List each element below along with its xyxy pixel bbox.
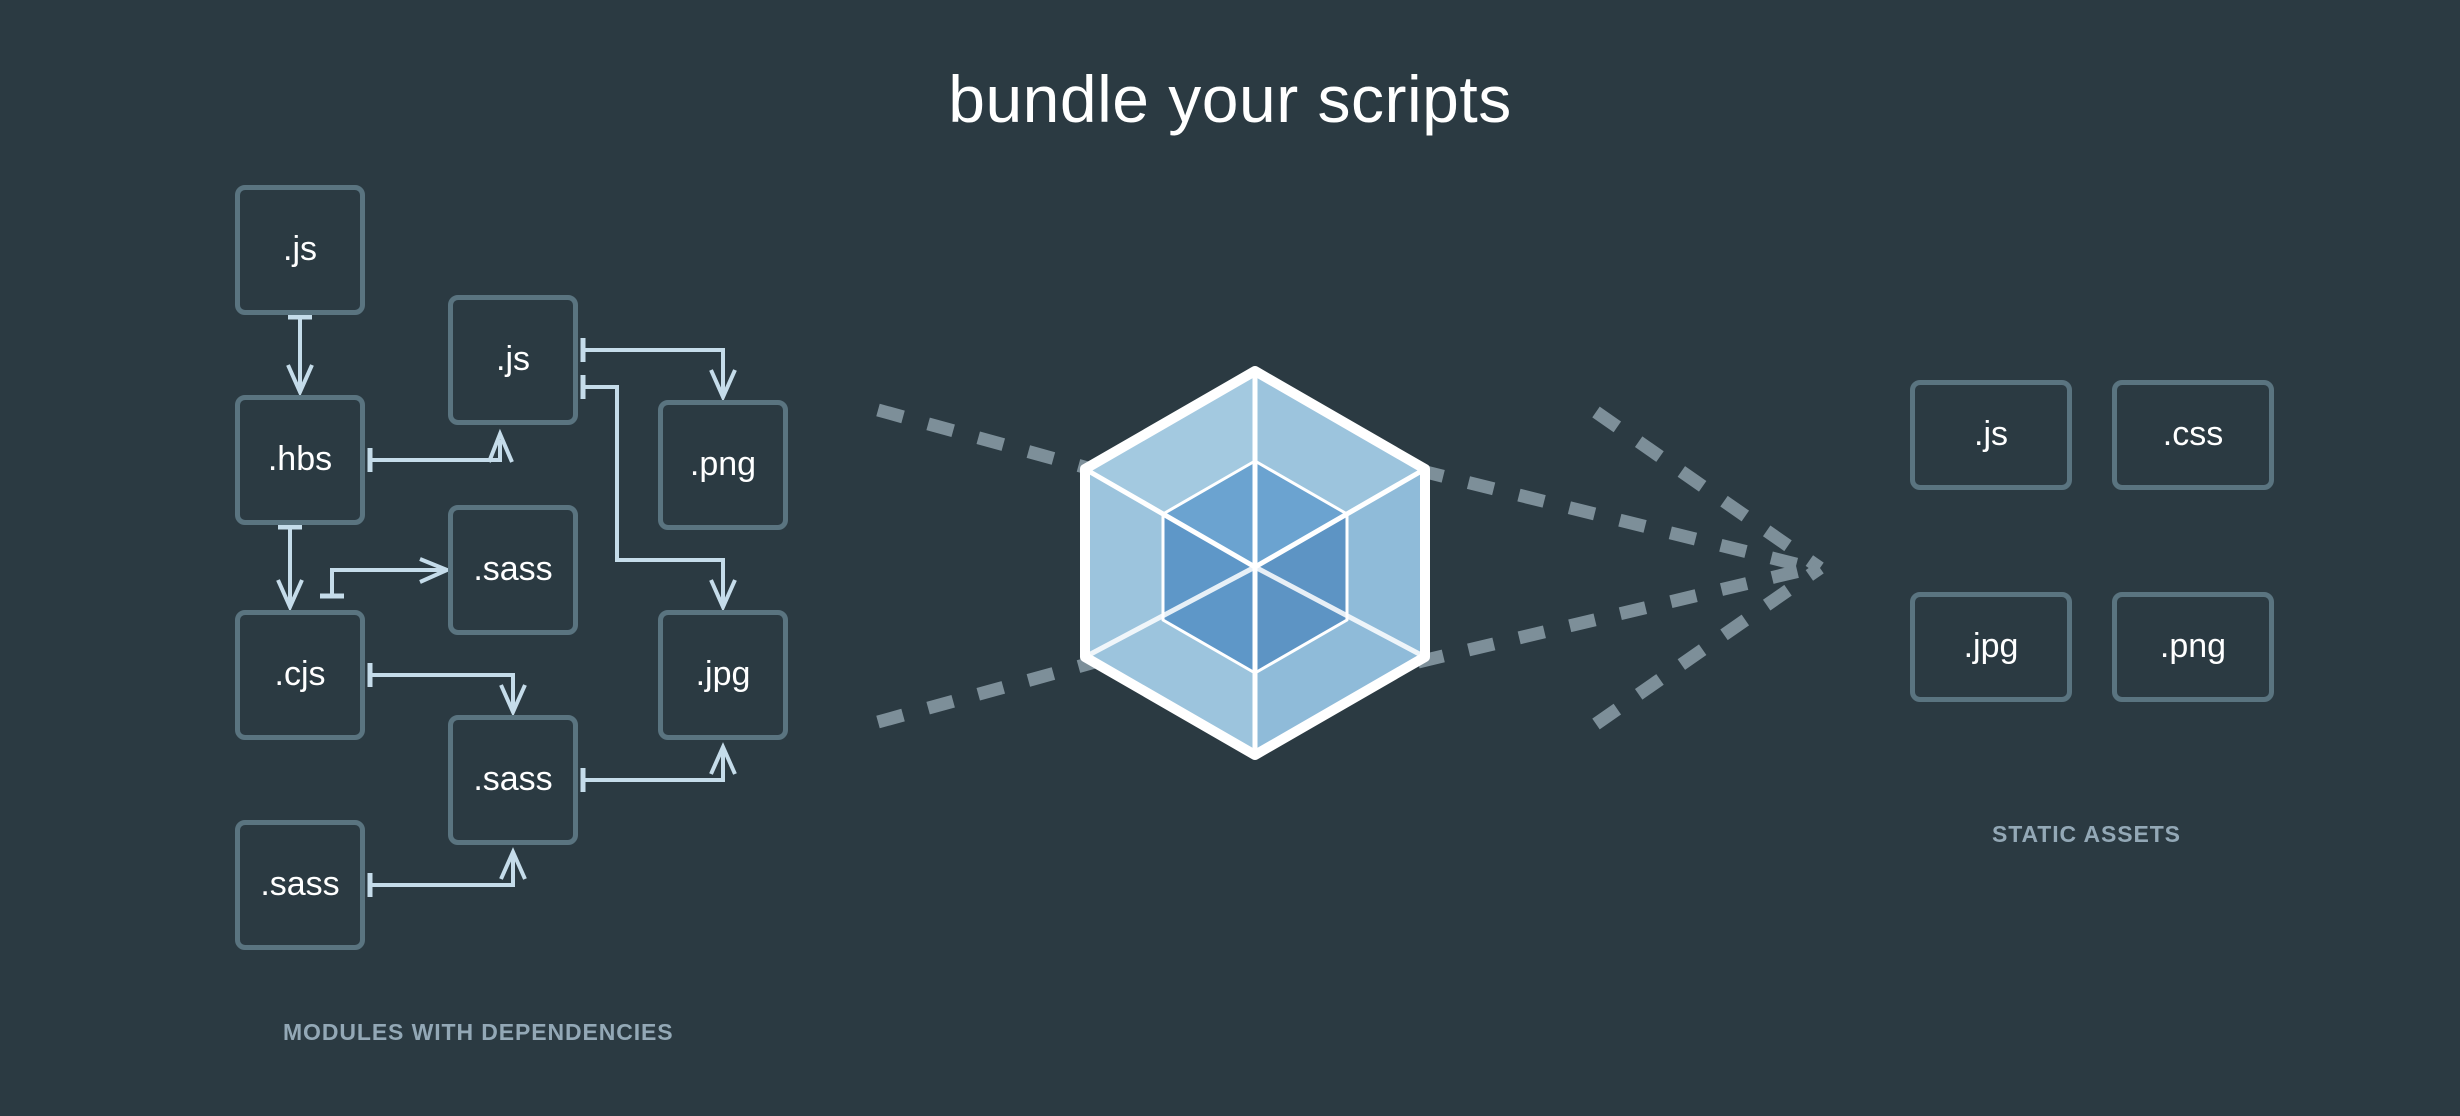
dependency-edges-layer <box>0 0 2460 1116</box>
module-node-sass-lower[interactable]: .sass <box>448 715 578 845</box>
edge-to-sass-upper <box>332 570 442 596</box>
page-title: bundle your scripts <box>0 66 2460 132</box>
edge-js-mid-to-png <box>583 350 723 393</box>
arrowhead-sass-lower-to-jpg <box>711 747 735 774</box>
cube-outer-right-face <box>1255 469 1425 755</box>
cube-outer-edges <box>1085 371 1425 755</box>
module-node-cjs[interactable]: .cjs <box>235 610 365 740</box>
asset-node-png[interactable]: .png <box>2112 592 2274 702</box>
asset-label: .jpg <box>1964 629 2019 663</box>
cube-inner-left-face <box>1163 514 1255 673</box>
edge-cjs-to-sass-lower <box>370 675 513 708</box>
module-node-sass-bottom[interactable]: .sass <box>235 820 365 950</box>
asset-label: .css <box>2163 417 2223 451</box>
edge-sass-lower-to-jpg <box>583 752 723 780</box>
asset-node-js[interactable]: .js <box>1910 380 2072 490</box>
cube-outer-left-face <box>1085 469 1255 755</box>
module-label: .hbs <box>268 442 332 476</box>
cube-inner-top-face <box>1163 461 1347 567</box>
input-dashed-line-bottom <box>878 662 1095 722</box>
module-label: .sass <box>473 762 552 796</box>
module-node-jpg[interactable]: .jpg <box>658 610 788 740</box>
output-arrowhead-lower <box>1596 568 1820 724</box>
output-dashed-line-bottom <box>1418 568 1812 662</box>
module-node-js-mid[interactable]: .js <box>448 295 578 425</box>
cube-inner-edges <box>1163 461 1347 673</box>
module-label: .png <box>690 447 756 481</box>
asset-label: .js <box>1974 417 2008 451</box>
edge-hbs-to-js-mid <box>370 440 500 460</box>
cube-outer-inner-edges <box>1085 371 1425 755</box>
module-label: .js <box>283 232 317 266</box>
asset-node-css[interactable]: .css <box>2112 380 2274 490</box>
output-arrowhead-upper <box>1596 412 1820 568</box>
cube-inner-right-face <box>1255 514 1347 673</box>
edge-sass-bottom-to-sass-lower <box>370 857 513 885</box>
module-node-js-top[interactable]: .js <box>235 185 365 315</box>
arrowhead-hbs-to-js-mid <box>489 434 512 462</box>
input-dashed-line-top <box>878 410 1095 470</box>
module-node-sass-upper[interactable]: .sass <box>448 505 578 635</box>
assets-caption: STATIC ASSETS <box>1992 823 2181 846</box>
asset-node-jpg[interactable]: .jpg <box>1910 592 2072 702</box>
arrowhead-cjs-to-sass-lower <box>501 685 525 712</box>
flow-arrows-layer <box>0 0 2460 1116</box>
cube-outer-top-left-face <box>1085 371 1255 469</box>
module-label: .sass <box>260 867 339 901</box>
arrowhead-js-mid-to-png <box>711 370 735 397</box>
arrowhead-sass-bottom-to-sass-lower <box>501 852 525 879</box>
asset-label: .png <box>2160 629 2226 663</box>
diagram-canvas: bundle your scripts <box>0 0 2460 1116</box>
module-node-hbs[interactable]: .hbs <box>235 395 365 525</box>
module-label: .js <box>496 342 530 376</box>
output-dashed-line-top <box>1418 470 1812 568</box>
arrowhead-to-sass-upper <box>420 559 447 582</box>
arrowhead-hbs-to-cjs <box>278 580 302 607</box>
module-label: .sass <box>473 552 552 586</box>
cube-outer-top-face-right <box>1255 371 1425 567</box>
arrowhead-js-mid-to-jpg <box>711 580 735 607</box>
webpack-cube-icon <box>0 0 2460 1116</box>
module-label: .jpg <box>696 657 751 691</box>
module-node-png[interactable]: .png <box>658 400 788 530</box>
modules-caption: MODULES WITH DEPENDENCIES <box>283 1021 674 1044</box>
cube-outer-top-face <box>1085 371 1425 567</box>
arrowhead-js-top-to-hbs <box>288 365 312 392</box>
module-label: .cjs <box>275 657 326 691</box>
